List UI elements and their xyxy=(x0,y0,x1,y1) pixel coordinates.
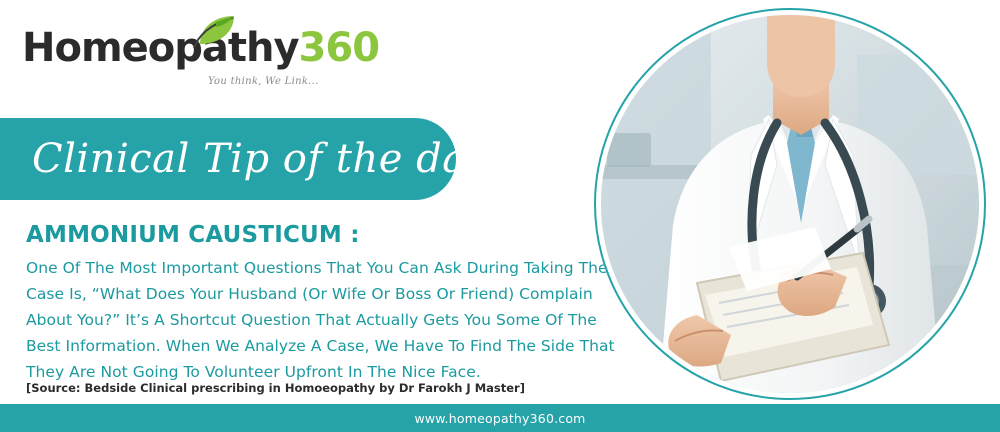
leaf-icon xyxy=(192,14,238,48)
clinical-tip-ribbon: Clinical Tip of the day xyxy=(0,118,456,200)
ribbon-label: Clinical Tip of the day xyxy=(0,136,490,182)
site-logo[interactable]: Homeopathy360 You think, We Link... xyxy=(22,28,322,108)
source-citation: [Source: Bedside Clinical prescribing in… xyxy=(26,381,525,395)
footer-bar: www.homeopathy360.com xyxy=(0,404,1000,432)
website-url[interactable]: www.homeopathy360.com xyxy=(414,411,585,426)
remedy-headline: AMMONIUM CAUSTICUM : xyxy=(26,222,360,248)
logo-tagline: You think, We Link... xyxy=(208,76,319,87)
tip-paragraph: One Of The Most Important Questions That… xyxy=(26,255,626,385)
promo-banner: Homeopathy360 You think, We Link... Clin… xyxy=(0,0,1000,432)
photo-ring-border xyxy=(594,8,986,400)
logo-name: Homeopathy xyxy=(22,25,299,71)
logo-wordmark: Homeopathy360 xyxy=(22,28,322,68)
logo-number: 360 xyxy=(299,25,380,71)
doctor-photo-container xyxy=(594,8,986,400)
